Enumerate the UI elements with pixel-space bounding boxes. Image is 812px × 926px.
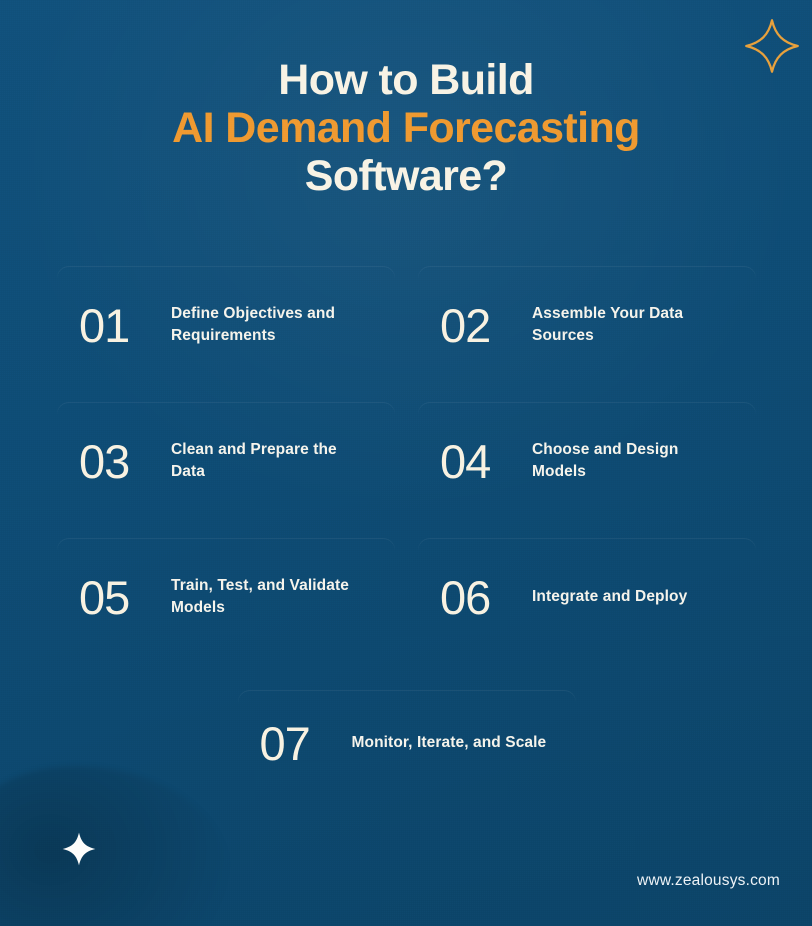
- step-card[interactable]: 01 Define Objectives and Requirements: [57, 266, 395, 384]
- title-line-3: Software?: [0, 152, 812, 200]
- title-line-1: How to Build: [0, 56, 812, 104]
- infographic-poster: How to Build AI Demand Forecasting Softw…: [0, 0, 812, 926]
- step-number: 04: [440, 438, 532, 485]
- step-label: Train, Test, and Validate Models: [171, 575, 375, 620]
- step-label: Clean and Prepare the Data: [171, 439, 375, 484]
- step-card[interactable]: 04 Choose and Design Models: [418, 402, 756, 520]
- step-number: 03: [79, 438, 171, 485]
- step-number: 07: [260, 720, 352, 767]
- step-label: Choose and Design Models: [532, 439, 736, 484]
- page-title: How to Build AI Demand Forecasting Softw…: [0, 56, 812, 200]
- step-number: 02: [440, 302, 532, 349]
- website-url[interactable]: www.zealousys.com: [637, 872, 780, 890]
- step-number: 05: [79, 574, 171, 621]
- four-point-star-filled-icon: [62, 832, 96, 866]
- step-label: Assemble Your Data Sources: [532, 303, 736, 348]
- step-number: 06: [440, 574, 532, 621]
- step-label: Integrate and Deploy: [532, 586, 687, 608]
- step-card[interactable]: 02 Assemble Your Data Sources: [418, 266, 756, 384]
- step-card[interactable]: 05 Train, Test, and Validate Models: [57, 538, 395, 656]
- step-card[interactable]: 06 Integrate and Deploy: [418, 538, 756, 656]
- steps-last-row: 07 Monitor, Iterate, and Scale: [57, 690, 756, 796]
- title-line-2-accent: AI Demand Forecasting: [0, 104, 812, 152]
- step-card[interactable]: 07 Monitor, Iterate, and Scale: [238, 690, 576, 796]
- step-number: 01: [79, 302, 171, 349]
- steps-grid: 01 Define Objectives and Requirements 02…: [57, 266, 756, 796]
- step-label: Define Objectives and Requirements: [171, 303, 375, 348]
- step-label: Monitor, Iterate, and Scale: [352, 732, 547, 754]
- step-card[interactable]: 03 Clean and Prepare the Data: [57, 402, 395, 520]
